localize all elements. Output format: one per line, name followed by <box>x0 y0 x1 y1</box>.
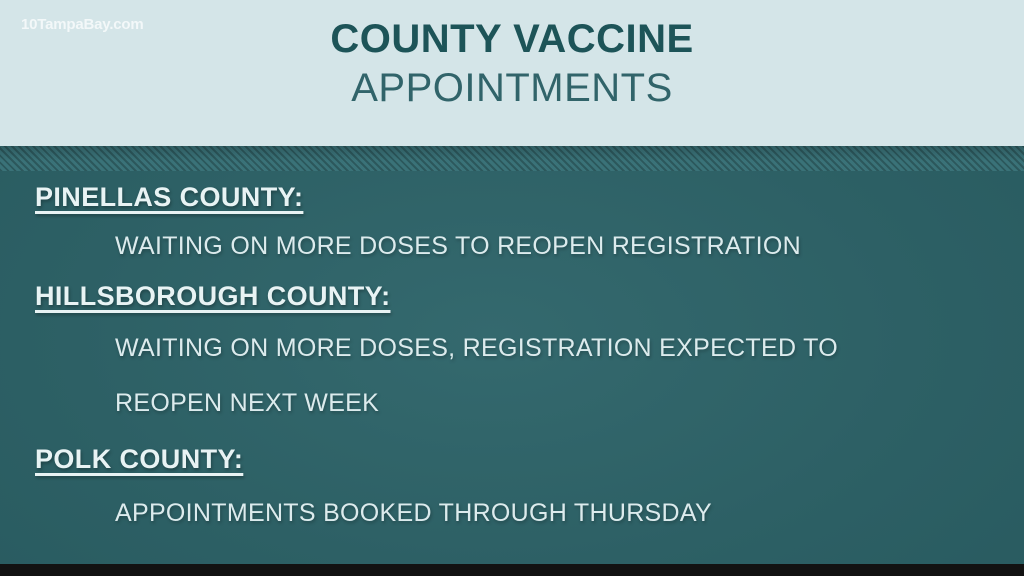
county-heading-hillsborough: HILLSBOROUGH COUNTY: <box>0 281 390 312</box>
title-line-primary: COUNTY VACCINE <box>0 16 1024 62</box>
page-title: COUNTY VACCINE APPOINTMENTS <box>0 0 1024 114</box>
county-status-line: REOPEN NEXT WEEK <box>0 389 379 418</box>
county-status-line: WAITING ON MORE DOSES TO REOPEN REGISTRA… <box>0 232 801 261</box>
broadcast-graphic-screen: 10TampaBay.com COUNTY VACCINE APPOINTMEN… <box>0 0 1024 576</box>
county-status-line: WAITING ON MORE DOSES, REGISTRATION EXPE… <box>0 334 838 363</box>
content-area: PINELLAS COUNTY: WAITING ON MORE DOSES T… <box>0 171 1024 564</box>
county-heading-polk: POLK COUNTY: <box>0 444 243 475</box>
bottom-letterbox-bar <box>0 564 1024 576</box>
divider-shading <box>0 146 1024 171</box>
county-heading-pinellas: PINELLAS COUNTY: <box>0 182 303 213</box>
striped-divider <box>0 146 1024 171</box>
county-status-line: APPOINTMENTS BOOKED THROUGH THURSDAY <box>0 499 712 528</box>
header-band: 10TampaBay.com COUNTY VACCINE APPOINTMEN… <box>0 0 1024 146</box>
title-line-secondary: APPOINTMENTS <box>0 62 1024 114</box>
